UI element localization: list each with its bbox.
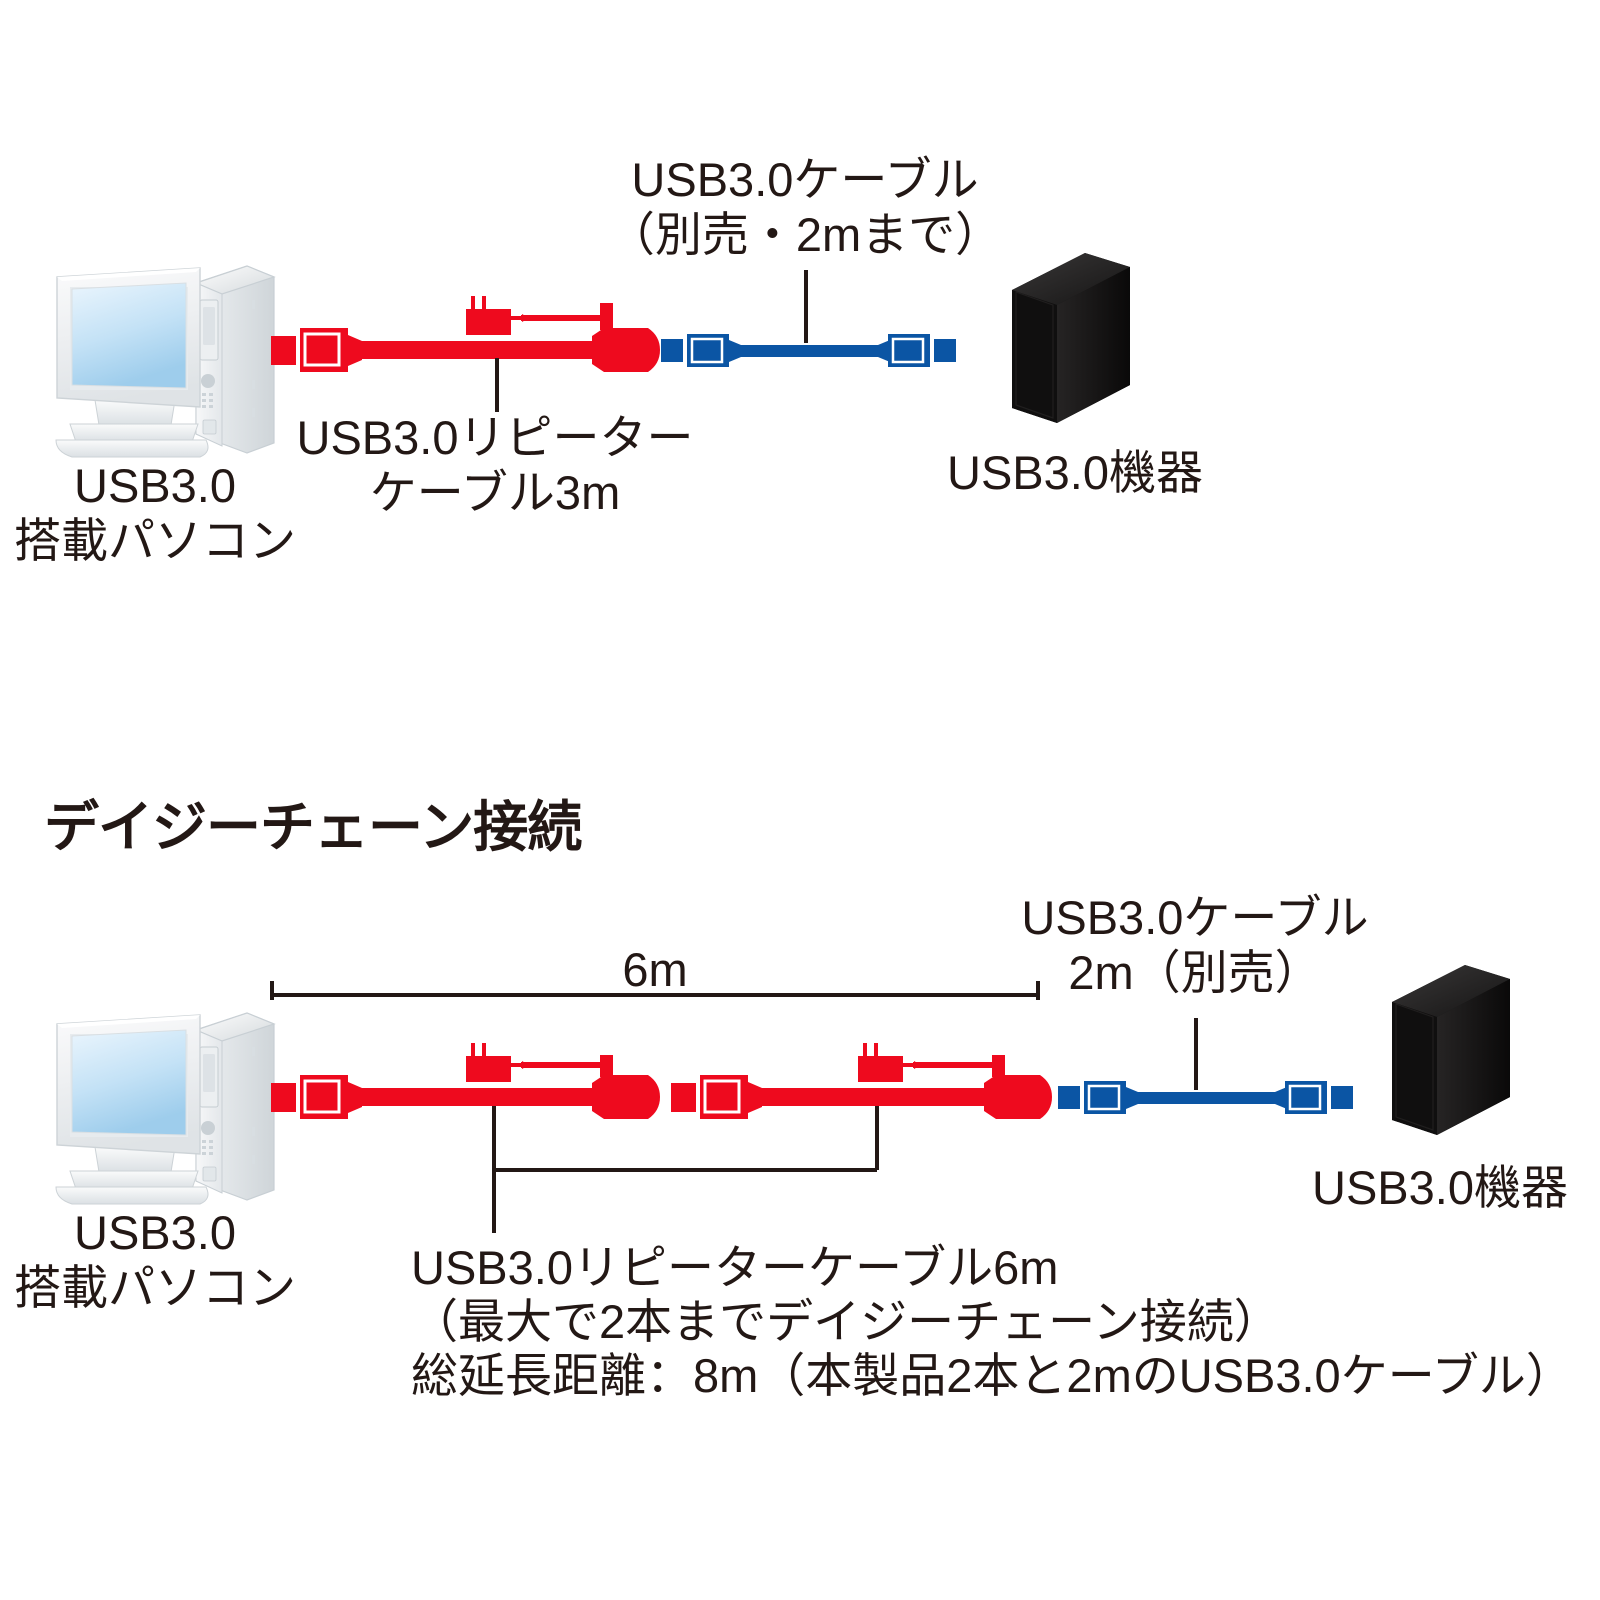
label-repeater-bottom-line2: （最大で2本までデイジーチェーン接続）	[411, 1294, 1591, 1349]
label-pc-bottom: USB3.0 搭載パソコン	[10, 1205, 300, 1316]
pc-illustration-top	[56, 266, 274, 457]
label-device-bottom: USB3.0機器	[1280, 1160, 1600, 1215]
usb3-cable-bottom	[1058, 1081, 1353, 1114]
usb-repeater-cable-1-bottom	[271, 1043, 660, 1119]
leader-lines-bottom	[494, 1018, 1196, 1233]
label-repeater-top: USB3.0リピーター ケーブル3m	[260, 410, 730, 521]
leader-lines-top	[497, 270, 806, 412]
usb-repeater-cable-top	[271, 296, 660, 372]
label-usb3-cable-top: USB3.0ケーブル （別売・2mまで）	[570, 152, 1040, 263]
label-pc-top: USB3.0 搭載パソコン	[10, 458, 300, 569]
usb-repeater-cable-2-bottom	[671, 1043, 1052, 1119]
section-heading-daisy-chain: デイジーチェーン接続	[44, 795, 844, 860]
label-device-top: USB3.0機器	[900, 445, 1250, 500]
usb3-cable-top	[661, 334, 956, 367]
label-repeater-bottom-line3: 総延長距離：8m（本製品2本と2mのUSB3.0ケーブル）	[411, 1348, 1600, 1403]
label-dimension-6m: 6m	[555, 942, 755, 997]
diagram-canvas: USB3.0ケーブル （別売・2mまで） USB3.0 搭載パソコン USB3.…	[0, 0, 1600, 1600]
label-usb3-cable-bottom: USB3.0ケーブル 2m（別売）	[960, 890, 1430, 1001]
pc-illustration-bottom	[56, 1013, 274, 1204]
usb3-device-top	[1012, 253, 1130, 423]
label-repeater-bottom-line1: USB3.0リピーターケーブル6m	[411, 1240, 1591, 1295]
